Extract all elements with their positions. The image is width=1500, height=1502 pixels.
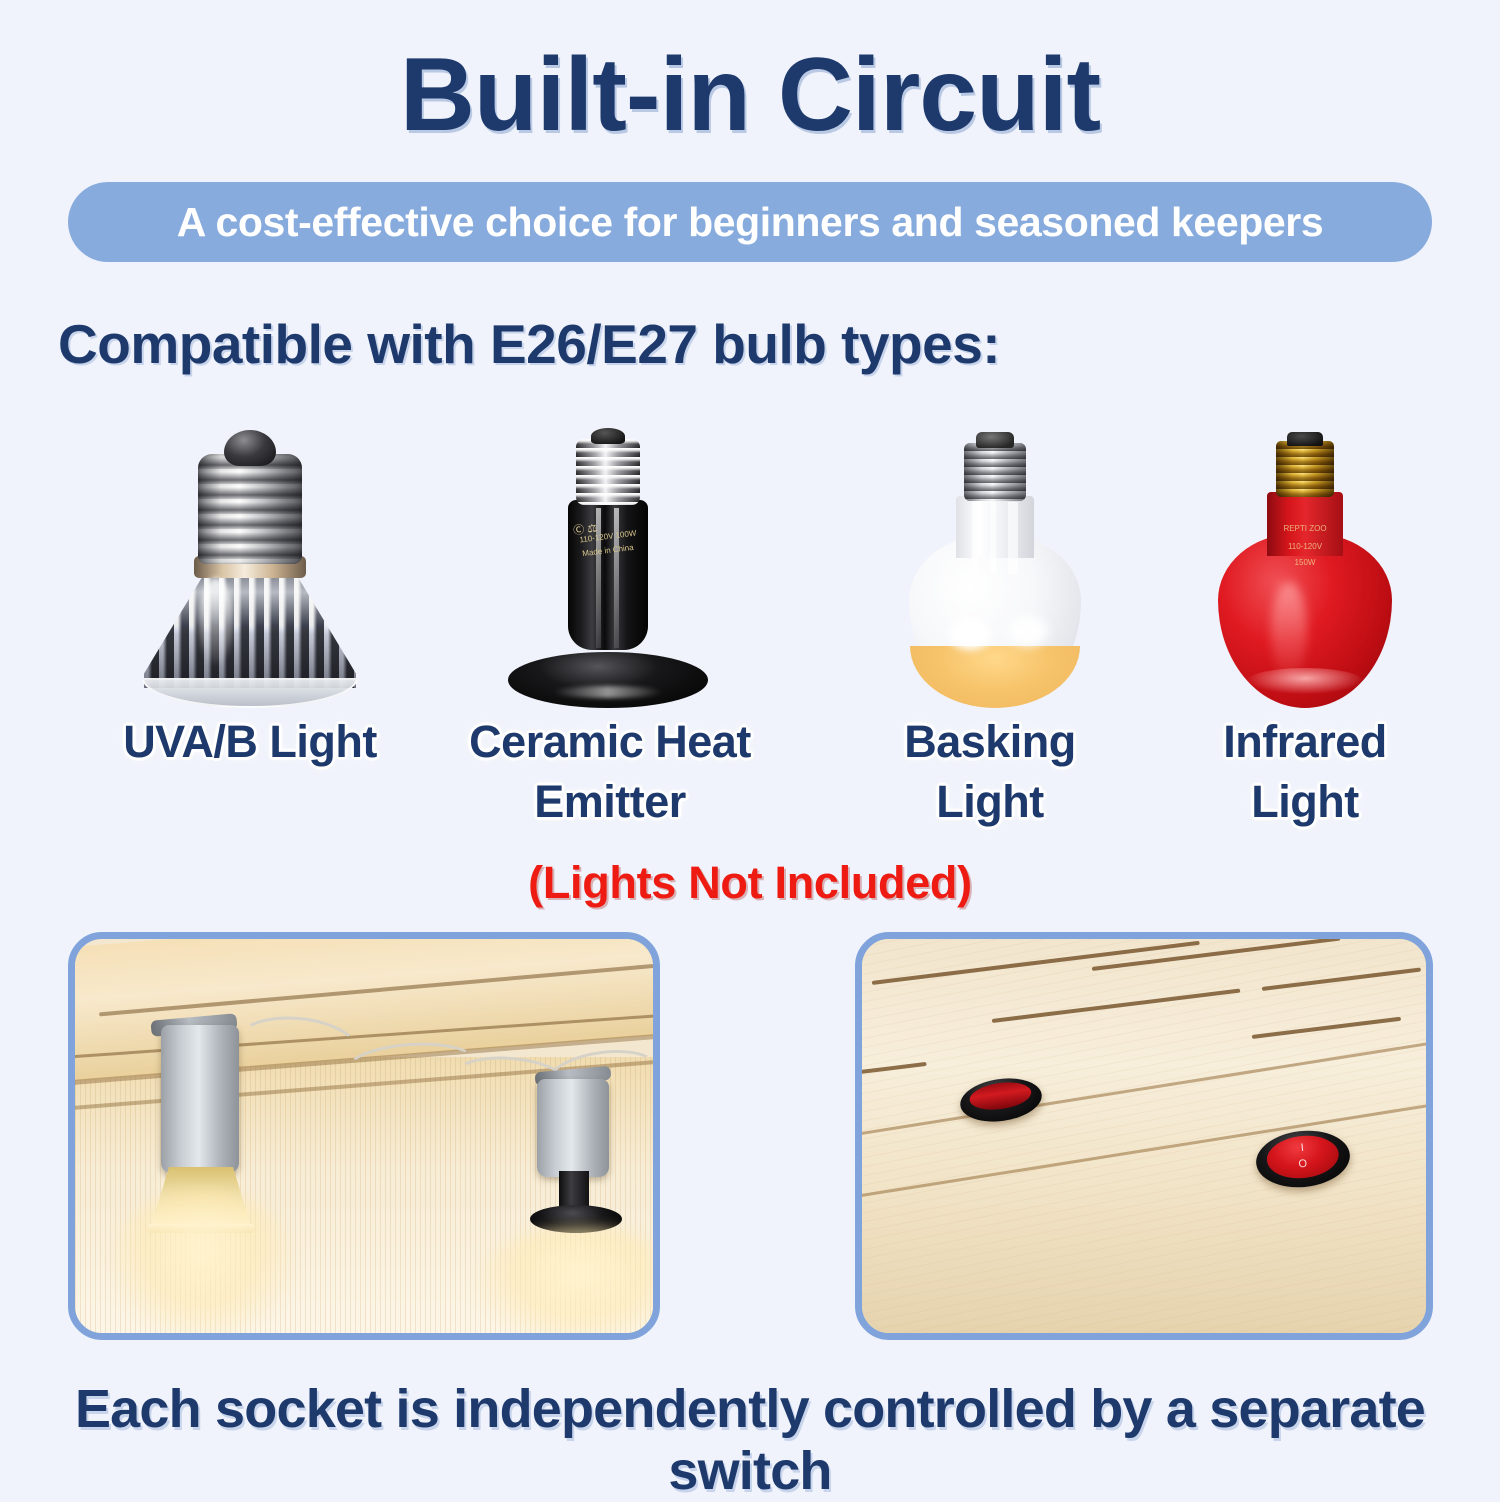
bulb-item-uva-b xyxy=(105,408,395,708)
bulb-gallery: Ⓒ ⚖ 110-120V 100W Made in China REPTI ZO… xyxy=(0,408,1500,708)
caption-infrared-light-line1: Infrared xyxy=(1165,712,1445,772)
caption-basking-light: Basking Light xyxy=(850,712,1130,832)
caption-basking-light-line1: Basking xyxy=(850,712,1130,772)
caption-infrared-light: Infrared Light xyxy=(1165,712,1445,832)
subtitle-text: A cost-effective choice for beginners an… xyxy=(177,199,1323,246)
interior-sockets-photo xyxy=(68,932,660,1340)
caption-infrared-light-line2: Light xyxy=(1165,772,1445,832)
caption-basking-light-line2: Light xyxy=(850,772,1130,832)
ir-print-line-2: 110-120V xyxy=(1263,542,1347,552)
caption-ceramic-heat-emitter-line2: Emitter xyxy=(430,772,790,832)
footer-caption: Each socket is independently controlled … xyxy=(0,1378,1500,1502)
compatibility-heading: Compatible with E26/E27 bulb types: xyxy=(58,312,1000,376)
caption-uva-b-light: UVA/B Light xyxy=(40,712,460,772)
switch-off-mark: O xyxy=(1298,1159,1308,1171)
ir-print-line-3: 150W xyxy=(1263,558,1347,568)
ceramic-heat-emitter-icon: Ⓒ ⚖ 110-120V 100W Made in China xyxy=(498,428,718,708)
infrared-light-icon: REPTI ZOO 110-120V 150W xyxy=(1210,432,1400,708)
basking-light-icon xyxy=(900,432,1090,708)
bulb-item-ceramic-heat-emitter: Ⓒ ⚖ 110-120V 100W Made in China xyxy=(478,408,738,708)
page-title: Built-in Circuit xyxy=(0,34,1500,157)
uva-b-light-icon xyxy=(135,430,365,708)
top-panel-switches-photo: I O xyxy=(855,932,1433,1340)
caption-ceramic-heat-emitter-line1: Ceramic Heat xyxy=(430,712,790,772)
bulb-item-basking-light xyxy=(880,408,1110,708)
subtitle-banner: A cost-effective choice for beginners an… xyxy=(68,182,1432,262)
bulb-item-infrared-light: REPTI ZOO 110-120V 150W xyxy=(1190,408,1420,708)
lights-not-included-notice: (Lights Not Included) xyxy=(0,857,1500,909)
ir-print-line-1: REPTI ZOO xyxy=(1263,524,1347,534)
caption-ceramic-heat-emitter: Ceramic Heat Emitter xyxy=(430,712,790,832)
